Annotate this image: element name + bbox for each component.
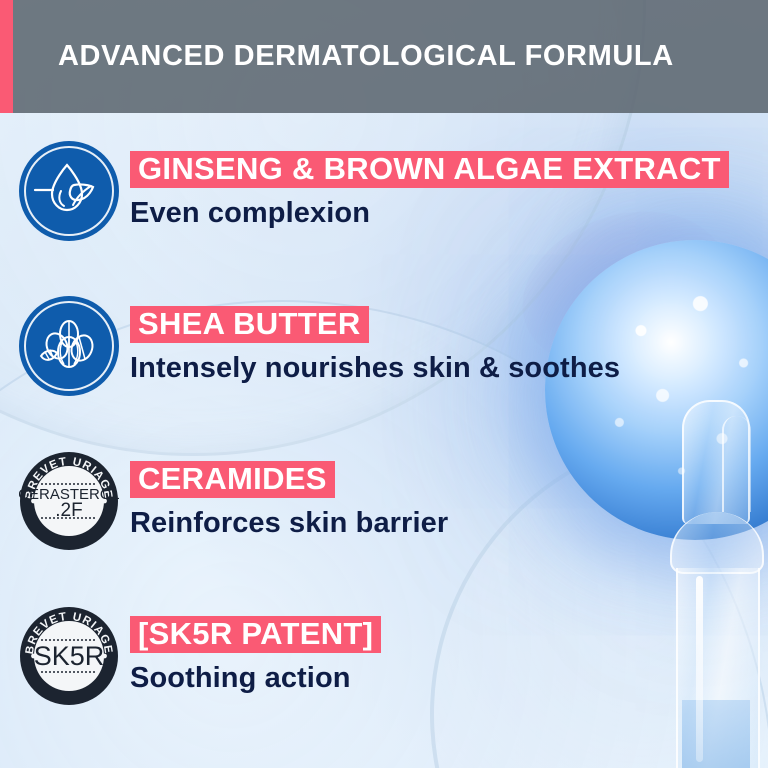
feature-texts: SHEA BUTTER Intensely nourishes skin & s… — [122, 306, 620, 386]
sk5r-badge-glyph: BREVET URIAGE URIAGE PATENT SK5R — [19, 606, 119, 706]
feature-title: SHEA BUTTER — [130, 306, 369, 344]
feature-subtitle: Soothing action — [130, 662, 381, 695]
feature-row: BREVET URIAGE URIAGE PATENT CERASTEROL .… — [0, 423, 768, 578]
sk5r-patent-badge: BREVET URIAGE URIAGE PATENT SK5R — [19, 606, 119, 706]
feature-title: [SK5R PATENT] — [130, 616, 381, 654]
badge-center-line1: SK5R — [34, 641, 105, 671]
badge-center-line2: .2F — [55, 500, 82, 521]
feature-texts: GINSENG & BROWN ALGAE EXTRACT Even compl… — [122, 151, 729, 231]
header-band: ADVANCED DERMATOLOGICAL FORMULA — [0, 0, 768, 113]
shea-nuts-icon — [19, 296, 119, 396]
feature-icon-wrap: BREVET URIAGE URIAGE PATENT SK5R — [16, 606, 122, 706]
header-accent-bar — [0, 0, 13, 113]
cerasterol-badge-glyph: BREVET URIAGE URIAGE PATENT CERASTEROL .… — [19, 451, 119, 551]
feature-icon-wrap: BREVET URIAGE URIAGE PATENT CERASTEROL .… — [16, 451, 122, 551]
shea-nuts-glyph — [35, 312, 103, 380]
feature-list: GINSENG & BROWN ALGAE EXTRACT Even compl… — [0, 113, 768, 733]
poster-root: ADVANCED DERMATOLOGICAL FORMULA GINSENG … — [0, 0, 768, 768]
feature-subtitle: Reinforces skin barrier — [130, 507, 448, 540]
feature-row: GINSENG & BROWN ALGAE EXTRACT Even compl… — [0, 113, 768, 268]
feature-row: BREVET URIAGE URIAGE PATENT SK5R [SK5R P… — [0, 578, 768, 733]
feature-row: SHEA BUTTER Intensely nourishes skin & s… — [0, 268, 768, 423]
feature-title: CERAMIDES — [130, 461, 335, 499]
feature-texts: [SK5R PATENT] Soothing action — [122, 616, 381, 696]
feature-subtitle: Even complexion — [130, 197, 729, 230]
feature-texts: CERAMIDES Reinforces skin barrier — [122, 461, 448, 541]
feature-title: GINSENG & BROWN ALGAE EXTRACT — [130, 151, 729, 189]
feature-icon-wrap — [16, 296, 122, 396]
droplet-leaf-glyph — [33, 155, 105, 227]
page-title: ADVANCED DERMATOLOGICAL FORMULA — [58, 40, 674, 73]
cerasterol-patent-badge: BREVET URIAGE URIAGE PATENT CERASTEROL .… — [19, 451, 119, 551]
feature-subtitle: Intensely nourishes skin & soothes — [130, 352, 620, 385]
feature-icon-wrap — [16, 141, 122, 241]
droplet-leaf-icon — [19, 141, 119, 241]
